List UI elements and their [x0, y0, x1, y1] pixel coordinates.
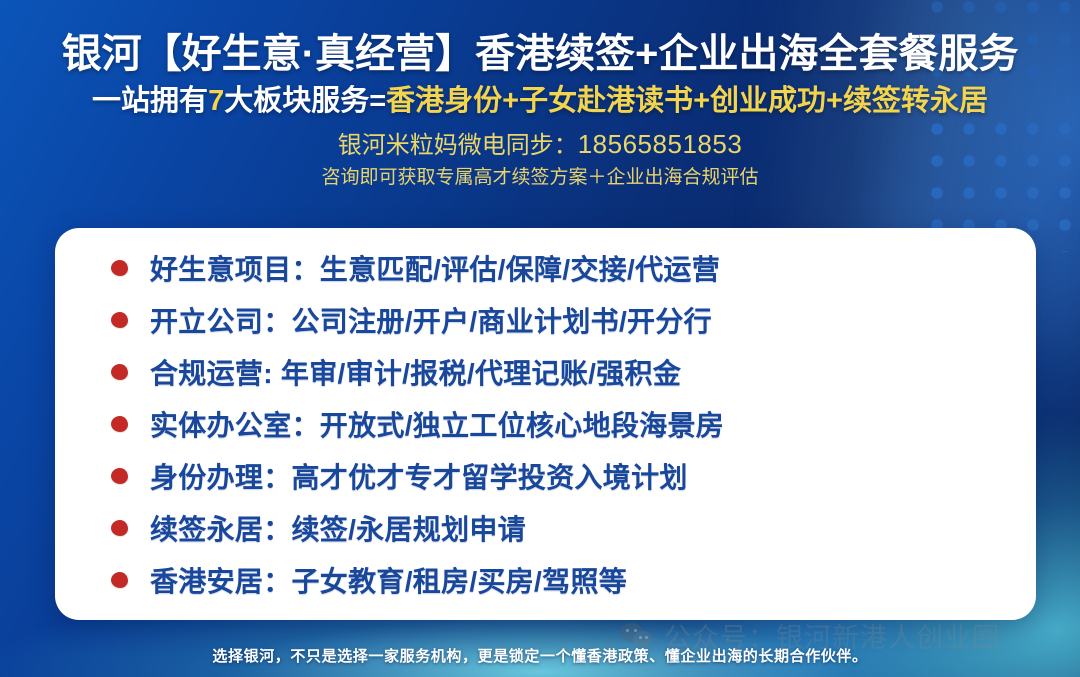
list-item: 合规运营: 年审/审计/报税/代理记账/强积金 [55, 346, 1036, 398]
list-item-label: 续签永居：续签/永居规划申请 [150, 508, 526, 548]
list-item-label: 实体办公室：开放式/独立工位核心地段海景房 [150, 404, 724, 444]
subtitle-count-highlight: 7 [208, 85, 224, 117]
poster-canvas: 银河【好生意·真经营】香港续签+企业出海全套餐服务 一站拥有7大板块服务=香港身… [0, 0, 1080, 677]
subtitle-part1: 一站拥有 [92, 85, 208, 117]
footer-text: 选择银河，不只是选择一家服务机构，更是锁定一个懂香港政策、懂企业出海的长期合作伙… [212, 645, 867, 666]
red-dot-bullet-icon [111, 312, 128, 328]
list-item: 好生意项目：生意匹配/评估/保障/交接/代运营 [55, 242, 1036, 294]
list-item: 香港安居：子女教育/租房/买房/驾照等 [55, 554, 1036, 606]
list-item-label: 合规运营: 年审/审计/报税/代理记账/强积金 [150, 352, 681, 392]
list-item-label: 香港安居：子女教育/租房/买房/驾照等 [150, 560, 627, 600]
header-block: 银河【好生意·真经营】香港续签+企业出海全套餐服务 一站拥有7大板块服务=香港身… [0, 0, 1080, 190]
list-item-label: 身份办理：高才优才专才留学投资入境计划 [150, 456, 688, 496]
contact-label: 银河米粒妈微电同步： [338, 132, 578, 159]
contact-note: 咨询即可获取专属高才续签方案＋企业出海合规评估 [0, 167, 1080, 190]
contact-phone: 18565851853 [578, 129, 743, 159]
list-item: 实体办公室：开放式/独立工位核心地段海景房 [55, 398, 1036, 450]
list-item-label: 开立公司：公司注册/开户/商业计划书/开分行 [150, 300, 712, 340]
page-title: 银河【好生意·真经营】香港续签+企业出海全套餐服务 [0, 32, 1080, 76]
footer-bar: 选择银河，不只是选择一家服务机构，更是锁定一个懂香港政策、懂企业出海的长期合作伙… [0, 645, 1080, 666]
contact-line: 银河米粒妈微电同步：18565851853 [0, 129, 1080, 161]
list-item: 身份办理：高才优才专才留学投资入境计划 [55, 450, 1036, 502]
services-card: 好生意项目：生意匹配/评估/保障/交接/代运营 开立公司：公司注册/开户/商业计… [55, 228, 1036, 620]
subtitle-tail-highlight: 香港身份+子女赴港读书+创业成功+续签转永居 [386, 85, 988, 117]
list-item-label: 好生意项目：生意匹配/评估/保障/交接/代运营 [150, 248, 720, 288]
list-item: 开立公司：公司注册/开户/商业计划书/开分行 [55, 294, 1036, 346]
red-dot-bullet-icon [111, 520, 128, 536]
red-dot-bullet-icon [111, 468, 128, 484]
red-dot-bullet-icon [111, 572, 128, 588]
red-dot-bullet-icon [111, 416, 128, 432]
list-item: 续签永居：续签/永居规划申请 [55, 502, 1036, 554]
services-list: 好生意项目：生意匹配/评估/保障/交接/代运营 开立公司：公司注册/开户/商业计… [55, 242, 1036, 606]
red-dot-bullet-icon [111, 260, 128, 276]
page-subtitle: 一站拥有7大板块服务=香港身份+子女赴港读书+创业成功+续签转永居 [0, 85, 1080, 118]
subtitle-part2: 大板块服务= [224, 85, 386, 117]
red-dot-bullet-icon [111, 364, 128, 380]
